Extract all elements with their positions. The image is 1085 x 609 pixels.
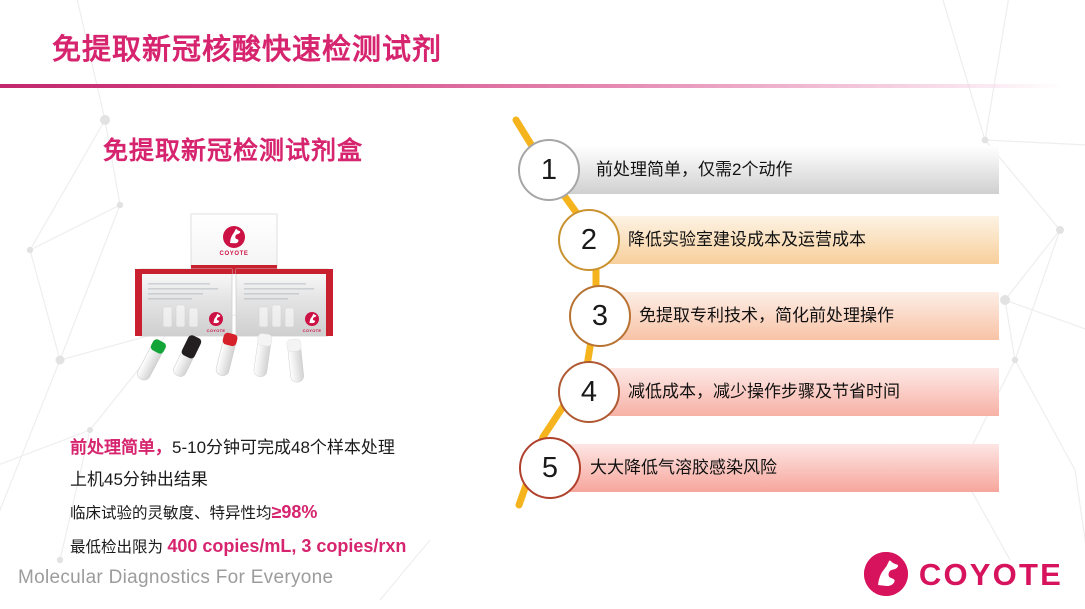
fact-row-2: 上机45分钟出结果 [70,464,490,496]
step-label-3: 免提取专利技术，简化前处理操作 [639,292,894,340]
fact-1-rest: 5-10分钟可完成48个样本处理 [172,438,395,457]
step-circle-2[interactable]: 2 [558,209,620,271]
footer-tagline: Molecular Diagnostics For Everyone [18,567,333,589]
step-label-4: 减低成本，减少操作步骤及节省时间 [628,368,900,416]
step-label-1: 前处理简单，仅需2个动作 [596,146,792,194]
kit-heading: 免提取新冠检测试剂盒 [103,131,363,167]
fact-row-3: 临床试验的灵敏度、特异性均≥98% [70,496,490,530]
step-label-5: 大大降低气溶胶感染风险 [590,444,777,492]
fact-3-highlight: ≥98% [272,502,318,522]
product-box-right: COYOTE [236,269,333,336]
svg-text:COYOTE: COYOTE [220,251,249,257]
product-photo: COYOTE COYOTE [133,201,351,391]
tube-red [214,332,238,377]
step-number-2: 2 [581,224,597,257]
slide-root: 免提取新冠核酸快速检测试剂 免提取新冠检测试剂盒 [0,0,1085,609]
coyote-howling-icon [864,552,908,596]
product-box-left: COYOTE [135,269,232,336]
brand-logo: COYOTE [864,552,1063,596]
step-circle-1[interactable]: 1 [518,139,580,201]
page-title: 免提取新冠核酸快速检测试剂 [52,26,442,68]
step-circle-5[interactable]: 5 [519,437,581,499]
step-number-4: 4 [581,376,597,409]
tube-clear-1 [253,333,273,378]
tube-black [171,334,202,379]
reagent-tubes [135,332,305,383]
step-number-5: 5 [542,452,558,485]
svg-text:COYOTE: COYOTE [303,328,322,333]
fact-2-rest: 上机45分钟出结果 [70,470,208,489]
fact-row-1: 前处理简单，5-10分钟可完成48个样本处理 [70,432,490,464]
product-box-top: COYOTE [191,214,277,274]
left-facts-block: 前处理简单，5-10分钟可完成48个样本处理 上机45分钟出结果 临床试验的灵敏… [70,432,490,564]
step-circle-4[interactable]: 4 [558,361,620,423]
tube-green [135,338,168,383]
title-divider [0,84,1063,88]
fact-4-highlight: 400 copies/mL, 3 copies/rxn [167,536,406,556]
step-label-2: 降低实验室建设成本及运营成本 [628,216,866,264]
step-number-3: 3 [592,300,608,333]
fact-3-prefix: 临床试验的灵敏度、特异性均 [70,505,272,522]
brand-wordmark: COYOTE [919,559,1063,590]
step-number-1: 1 [541,154,557,187]
fact-row-4: 最低检出限为 400 copies/mL, 3 copies/rxn [70,530,490,564]
fact-1-lead: 前处理简单， [70,438,172,457]
svg-text:COYOTE: COYOTE [207,328,226,333]
tube-clear-2 [286,339,304,383]
step-circle-3[interactable]: 3 [569,285,631,347]
fact-4-prefix: 最低检出限为 [70,539,167,556]
